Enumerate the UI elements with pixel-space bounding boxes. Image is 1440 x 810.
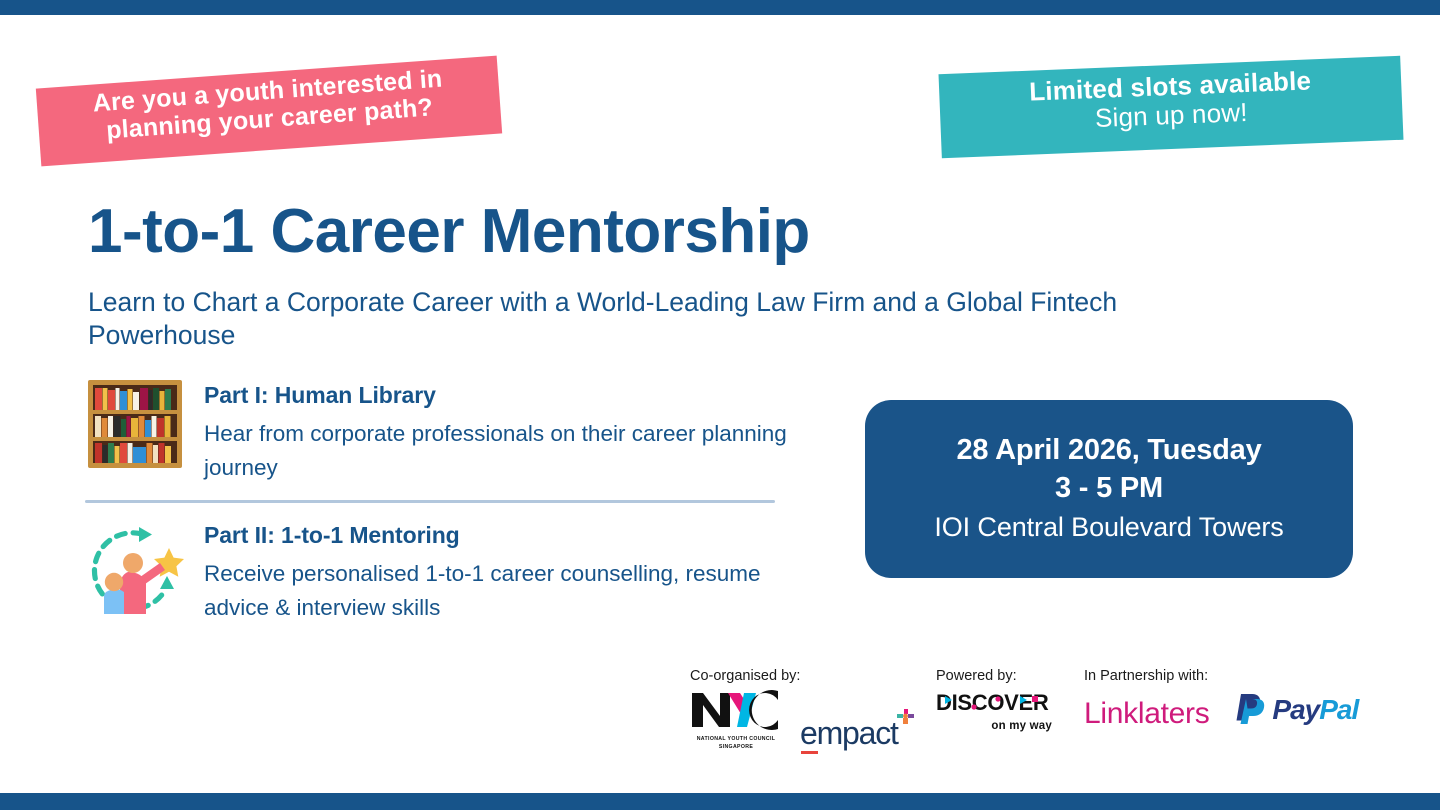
poster-canvas: Are you a youth interested in planning y… [0, 0, 1440, 810]
co-organised-label: Co-organised by: [690, 668, 898, 684]
linklaters-logo: Linklaters [1084, 699, 1209, 729]
pink-question-ribbon: Are you a youth interested in planning y… [36, 56, 502, 167]
empact-wordmark: empact [800, 717, 898, 749]
nyc-tagline-line-1: NATIONAL YOUTH COUNCIL [690, 736, 782, 743]
part-one-description: Hear from corporate professionals on the… [204, 417, 804, 485]
empact-logo: empact [800, 717, 898, 751]
co-organised-group: Co-organised by: NATIONAL YOUTH COUNCIL … [690, 668, 898, 751]
empact-underline [801, 751, 818, 754]
section-divider [85, 500, 775, 503]
linklaters-wordmark: Linklaters [1084, 699, 1209, 729]
part-two-description: Receive personalised 1-to-1 career couns… [204, 557, 804, 625]
paypal-logo: PayPal [1233, 690, 1358, 729]
powered-by-label: Powered by: [936, 668, 1054, 684]
part-two-block: Part II: 1-to-1 Mentoring Receive person… [84, 520, 804, 629]
powered-by-group: Powered by: DISCOVER on my way [936, 668, 1054, 732]
event-date: 28 April 2026, Tuesday [956, 432, 1261, 470]
paypal-wordmark: PayPal [1272, 696, 1358, 724]
discover-tagline: on my way [936, 720, 1054, 732]
top-accent-bar [0, 0, 1440, 15]
part-two-text: Part II: 1-to-1 Mentoring Receive person… [204, 520, 804, 625]
page-title: 1-to-1 Career Mentorship [88, 196, 810, 267]
event-time: 3 - 5 PM [1055, 470, 1163, 508]
paypal-p-icon [1233, 690, 1267, 729]
part-one-title: Part I: Human Library [204, 382, 804, 409]
partnership-label: In Partnership with: [1084, 668, 1358, 684]
paypal-pay-text: Pay [1272, 694, 1319, 725]
nyc-logo: NATIONAL YOUTH COUNCIL SINGAPORE [690, 690, 782, 751]
event-details-card: 28 April 2026, Tuesday 3 - 5 PM IOI Cent… [865, 400, 1353, 578]
mentoring-icon [84, 520, 190, 629]
svg-text:DISCOVER: DISCOVER [936, 690, 1049, 715]
partner-logos-footer: Co-organised by: NATIONAL YOUTH COUNCIL … [690, 668, 1410, 758]
partnership-group: In Partnership with: Linklaters PayPal [1084, 668, 1358, 729]
empact-pinwheel-icon [895, 708, 915, 733]
teal-slots-ribbon: Limited slots available Sign up now! [939, 56, 1404, 158]
bookshelf-icon [88, 380, 182, 473]
discover-logo: DISCOVER on my way [936, 690, 1054, 732]
page-subtitle: Learn to Chart a Corporate Career with a… [88, 286, 1268, 352]
event-venue: IOI Central Boulevard Towers [934, 509, 1283, 545]
bottom-accent-bar [0, 793, 1440, 810]
part-one-text: Part I: Human Library Hear from corporat… [204, 380, 804, 485]
nyc-tagline-line-2: SINGAPORE [690, 744, 782, 751]
part-two-title: Part II: 1-to-1 Mentoring [204, 522, 804, 549]
part-one-block: Part I: Human Library Hear from corporat… [88, 380, 804, 485]
paypal-pal-text: Pal [1319, 694, 1358, 725]
